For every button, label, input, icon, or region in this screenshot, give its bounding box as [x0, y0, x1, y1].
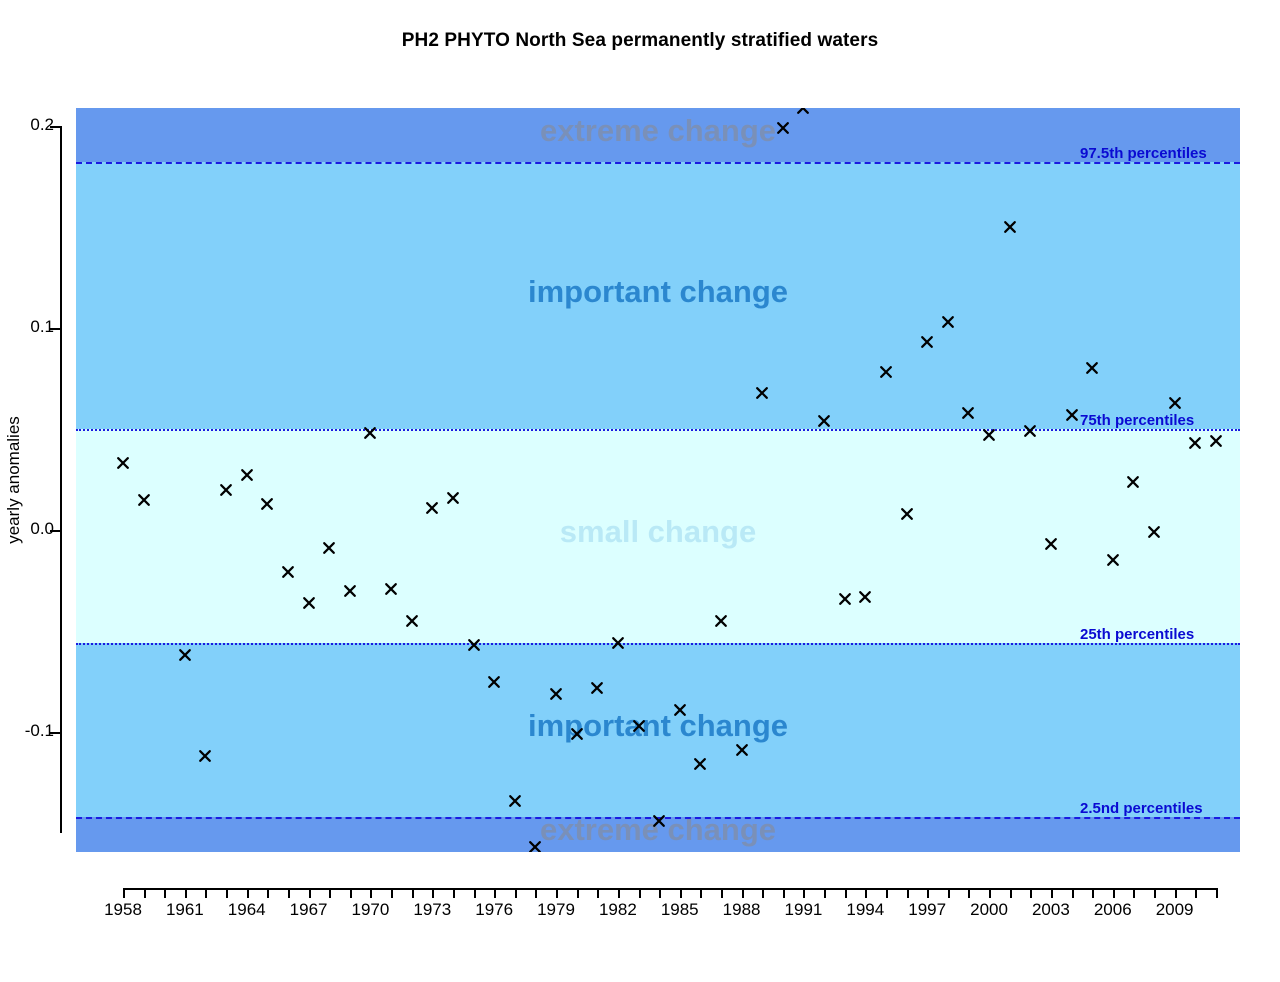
data-point: [384, 582, 398, 596]
x-tick-label: 1985: [650, 900, 710, 920]
data-point: [405, 614, 419, 628]
x-tick: [1030, 888, 1032, 898]
data-point: [1044, 537, 1058, 551]
data-point: [796, 108, 810, 115]
data-point: [714, 614, 728, 628]
x-tick: [762, 888, 764, 898]
data-point: [776, 121, 790, 135]
data-point: [487, 675, 501, 689]
x-tick-label: 2000: [959, 900, 1019, 920]
data-point: [879, 365, 893, 379]
data-point: [281, 565, 295, 579]
band-important-change: [76, 162, 1240, 429]
x-tick: [1010, 888, 1012, 898]
x-tick: [350, 888, 352, 898]
x-tick: [824, 888, 826, 898]
band-important-change: [76, 643, 1240, 817]
x-tick-label: 2009: [1145, 900, 1205, 920]
x-tick: [845, 888, 847, 898]
data-point: [137, 493, 151, 507]
x-tick-label: 1973: [402, 900, 462, 920]
x-tick: [639, 888, 641, 898]
x-tick: [948, 888, 950, 898]
data-point: [673, 703, 687, 717]
x-tick: [432, 888, 434, 898]
x-tick: [1216, 888, 1218, 898]
x-tick: [123, 888, 125, 898]
data-point: [1188, 436, 1202, 450]
data-point: [1209, 434, 1223, 448]
data-point: [1168, 396, 1182, 410]
data-point: [425, 501, 439, 515]
data-point: [652, 814, 666, 828]
x-tick: [1195, 888, 1197, 898]
x-tick: [535, 888, 537, 898]
x-tick: [1051, 888, 1053, 898]
data-point: [611, 636, 625, 650]
data-point: [219, 483, 233, 497]
x-tick-label: 1958: [93, 900, 153, 920]
x-tick: [205, 888, 207, 898]
data-point: [755, 386, 769, 400]
x-tick: [556, 888, 558, 898]
x-tick-label: 1994: [835, 900, 895, 920]
x-tick: [803, 888, 805, 898]
x-tick: [226, 888, 228, 898]
plot-area: extreme changeimportant changesmall chan…: [76, 108, 1240, 852]
x-tick-label: 1988: [712, 900, 772, 920]
x-tick: [144, 888, 146, 898]
chart-title: PH2 PHYTO North Sea permanently stratifi…: [0, 30, 1280, 52]
threshold-label-97-5th-percentiles: 97.5th percentiles: [1080, 145, 1207, 162]
x-tick: [309, 888, 311, 898]
x-tick: [742, 888, 744, 898]
data-point: [900, 507, 914, 521]
x-tick-label: 1997: [897, 900, 957, 920]
x-tick: [267, 888, 269, 898]
data-point: [590, 681, 604, 695]
data-point: [446, 491, 460, 505]
x-tick-label: 1991: [773, 900, 833, 920]
data-point: [467, 638, 481, 652]
x-tick: [597, 888, 599, 898]
data-point: [735, 743, 749, 757]
x-tick: [1175, 888, 1177, 898]
band-small-change: [76, 429, 1240, 643]
data-point: [693, 757, 707, 771]
threshold-label-2-5nd-percentiles: 2.5nd percentiles: [1080, 800, 1203, 817]
data-point: [858, 590, 872, 604]
x-tick-label: 2003: [1021, 900, 1081, 920]
x-tick: [721, 888, 723, 898]
x-tick: [494, 888, 496, 898]
y-axis-label: yearly anomalies: [0, 380, 34, 580]
data-point: [343, 584, 357, 598]
x-tick: [474, 888, 476, 898]
data-point: [116, 456, 130, 470]
data-point: [240, 468, 254, 482]
data-point: [920, 335, 934, 349]
data-point: [508, 794, 522, 808]
band-extreme-change: [76, 108, 1240, 162]
x-tick: [968, 888, 970, 898]
x-tick: [700, 888, 702, 898]
data-point: [1147, 525, 1161, 539]
x-tick: [1154, 888, 1156, 898]
x-tick: [783, 888, 785, 898]
plot-canvas: extreme changeimportant changesmall chan…: [76, 108, 1240, 852]
data-point: [941, 315, 955, 329]
y-axis-line: [60, 126, 62, 833]
x-tick-label: 1961: [155, 900, 215, 920]
x-tick: [1092, 888, 1094, 898]
x-tick-label: 1979: [526, 900, 586, 920]
data-point: [982, 428, 996, 442]
x-tick-label: 2006: [1083, 900, 1143, 920]
x-tick: [453, 888, 455, 898]
threshold-line-25th-percentiles: [76, 643, 1240, 645]
data-point: [838, 592, 852, 606]
data-point: [1023, 424, 1037, 438]
x-tick: [412, 888, 414, 898]
y-tick-label: 0.2: [30, 115, 54, 135]
data-point: [1085, 361, 1099, 375]
x-tick-label: 1970: [340, 900, 400, 920]
x-tick-label: 1976: [464, 900, 524, 920]
x-tick: [288, 888, 290, 898]
chart-root: PH2 PHYTO North Sea permanently stratifi…: [0, 0, 1280, 982]
x-tick: [680, 888, 682, 898]
data-point: [198, 749, 212, 763]
x-tick: [907, 888, 909, 898]
x-tick: [659, 888, 661, 898]
threshold-label-75th-percentiles: 75th percentiles: [1080, 412, 1194, 429]
data-point: [1065, 408, 1079, 422]
y-tick-label: 0.0: [30, 519, 54, 539]
data-point: [260, 497, 274, 511]
x-tick: [391, 888, 393, 898]
data-point: [961, 406, 975, 420]
data-point: [528, 840, 542, 852]
data-point: [302, 596, 316, 610]
data-point: [632, 719, 646, 733]
y-tick-label: -0.1: [25, 721, 54, 741]
data-point: [1003, 220, 1017, 234]
y-axis-label-text: yearly anomalies: [4, 416, 24, 544]
x-tick: [1133, 888, 1135, 898]
x-tick: [185, 888, 187, 898]
data-point: [363, 426, 377, 440]
data-point: [1126, 475, 1140, 489]
x-tick: [515, 888, 517, 898]
x-tick: [370, 888, 372, 898]
data-point: [178, 648, 192, 662]
x-tick: [927, 888, 929, 898]
y-tick-label: 0.1: [30, 317, 54, 337]
data-point: [322, 541, 336, 555]
x-tick: [886, 888, 888, 898]
x-tick: [577, 888, 579, 898]
x-tick: [1072, 888, 1074, 898]
x-tick: [329, 888, 331, 898]
x-tick: [865, 888, 867, 898]
x-tick: [989, 888, 991, 898]
x-tick: [1113, 888, 1115, 898]
data-point: [549, 687, 563, 701]
threshold-label-25th-percentiles: 25th percentiles: [1080, 626, 1194, 643]
data-point: [570, 727, 584, 741]
threshold-line-75th-percentiles: [76, 429, 1240, 431]
data-point: [1106, 553, 1120, 567]
data-point: [817, 414, 831, 428]
x-tick-label: 1982: [588, 900, 648, 920]
x-tick-label: 1967: [279, 900, 339, 920]
x-tick-label: 1964: [217, 900, 277, 920]
x-tick: [247, 888, 249, 898]
x-tick: [618, 888, 620, 898]
x-tick: [164, 888, 166, 898]
threshold-line-97-5th-percentiles: [76, 162, 1240, 164]
